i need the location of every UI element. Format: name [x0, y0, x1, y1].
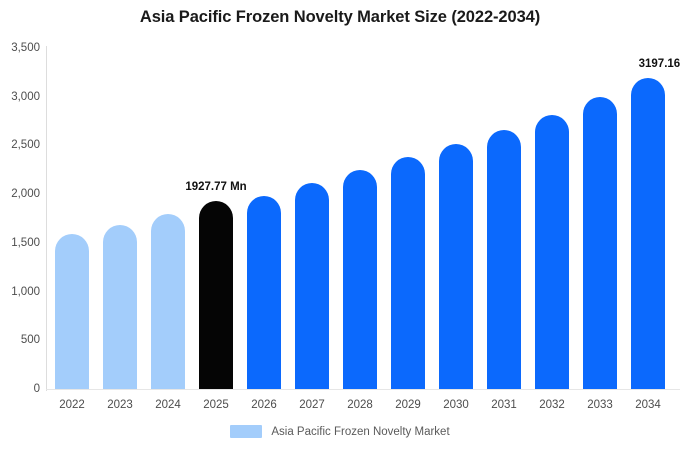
chart-legend: Asia Pacific Frozen Novelty Market [0, 425, 680, 438]
bar-rect-2029[interactable] [391, 157, 425, 389]
x-axis-tick-2031: 2031 [480, 399, 528, 411]
x-axis-tick-2030: 2030 [432, 399, 480, 411]
x-axis-tick-2034: 2034 [624, 399, 672, 411]
bar-rect-2032[interactable] [535, 115, 569, 389]
y-axis-tick-3000: 3,000 [0, 91, 40, 103]
x-axis-tick-2029: 2029 [384, 399, 432, 411]
legend-swatch-asia-pacific-frozen-novelty-market [230, 425, 262, 438]
x-axis-tick-2023: 2023 [96, 399, 144, 411]
bar-rect-2024[interactable] [151, 214, 185, 389]
x-axis-tick-2024: 2024 [144, 399, 192, 411]
bar-rect-2034[interactable] [631, 78, 665, 389]
bar-rect-2030[interactable] [439, 144, 473, 389]
y-axis-tick-500: 500 [0, 334, 40, 346]
bar-rect-2023[interactable] [103, 225, 137, 389]
x-axis-tick-2033: 2033 [576, 399, 624, 411]
x-axis-tick-2022: 2022 [48, 399, 96, 411]
bar-rect-2022[interactable] [55, 234, 89, 389]
bar-rect-2031[interactable] [487, 130, 521, 389]
x-axis-tick-2028: 2028 [336, 399, 384, 411]
bar-rect-2033[interactable] [583, 97, 617, 389]
y-axis-tick-3500: 3,500 [0, 42, 40, 54]
y-axis-tick-2500: 2,500 [0, 139, 40, 151]
bar-series-asia-pacific-frozen-novelty-market: 2022202320241927.77 Mn202520262027202820… [46, 0, 680, 450]
x-axis-tick-2026: 2026 [240, 399, 288, 411]
bar-rect-2025[interactable] [199, 201, 233, 389]
x-axis-tick-2025: 2025 [192, 399, 240, 411]
bar-value-label-2034: 3197.16 Mn [639, 58, 680, 70]
bar-rect-2028[interactable] [343, 170, 377, 389]
y-axis-tick-0: 0 [0, 383, 40, 395]
y-axis-tick-labels: 05001,0001,5002,0002,5003,0003,500 [0, 0, 40, 450]
x-axis-tick-2032: 2032 [528, 399, 576, 411]
legend-label-asia-pacific-frozen-novelty-market: Asia Pacific Frozen Novelty Market [271, 426, 449, 438]
y-axis-tick-1500: 1,500 [0, 237, 40, 249]
y-axis-tick-2000: 2,000 [0, 188, 40, 200]
y-axis-tick-1000: 1,000 [0, 286, 40, 298]
bar-chart: Asia Pacific Frozen Novelty Market Size … [0, 0, 680, 450]
x-axis-tick-2027: 2027 [288, 399, 336, 411]
bar-rect-2027[interactable] [295, 183, 329, 389]
bar-rect-2026[interactable] [247, 196, 281, 389]
bar-value-label-2025: 1927.77 Mn [185, 181, 246, 193]
